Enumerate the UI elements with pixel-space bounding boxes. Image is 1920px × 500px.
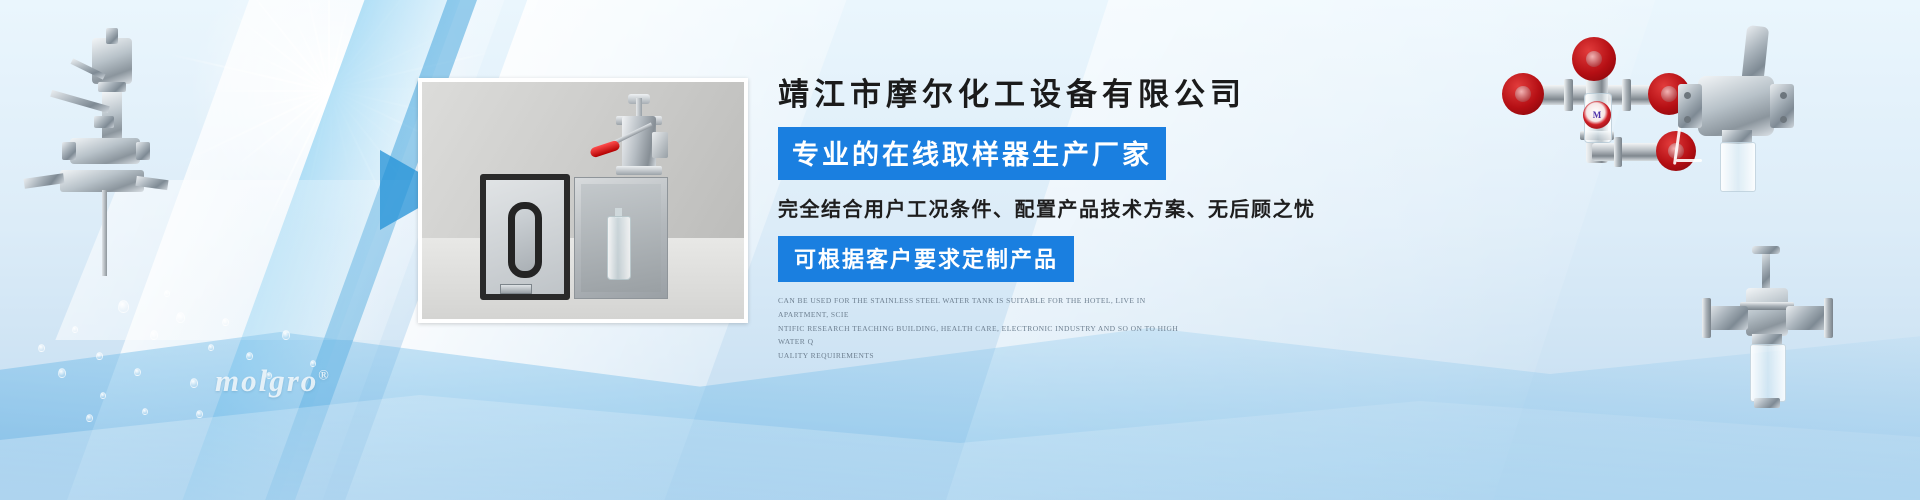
water-droplet (58, 368, 66, 378)
water-droplet (150, 330, 158, 340)
water-droplet (176, 312, 185, 323)
company-name: 靖江市摩尔化工设备有限公司 (778, 76, 1418, 115)
sub-headline: 完全结合用户工况条件、配置产品技术方案、无后顾之忧 (778, 193, 1418, 222)
lever-valve-icon (1640, 20, 1820, 200)
water-droplet (190, 378, 198, 388)
flanged-sampler-valve-icon (1700, 250, 1880, 450)
custom-order-badge[interactable]: 可根据客户要求定制产品 (778, 236, 1074, 282)
water-droplet (100, 392, 106, 399)
water-droplet (282, 330, 290, 340)
water-droplet (222, 318, 229, 326)
photo-valve-icon (608, 98, 670, 182)
water-droplet (96, 352, 103, 360)
headline-text-block: 靖江市摩尔化工设备有限公司 专业的在线取样器生产厂家 完全结合用户工况条件、配置… (778, 76, 1418, 363)
water-droplet (196, 410, 203, 418)
water-droplet (86, 414, 93, 422)
water-droplet (72, 326, 78, 333)
water-droplet (246, 352, 253, 360)
sampling-valve-assembly-icon (10, 20, 190, 300)
english-line-3: UALITY REQUIREMENTS (778, 349, 1188, 363)
english-line-1: CAN BE USED FOR THE STAINLESS STEEL WATE… (778, 294, 1188, 322)
registered-mark-icon: ® (318, 369, 330, 384)
water-droplet (208, 344, 214, 351)
sampler-cabinet-photo (418, 78, 748, 323)
water-droplet (142, 408, 148, 415)
watermark-logo: molgro® (215, 363, 331, 399)
product-hero-banner: 靖江市摩尔化工设备有限公司 专业的在线取样器生产厂家 完全结合用户工况条件、配置… (0, 0, 1920, 500)
english-description: CAN BE USED FOR THE STAINLESS STEEL WATE… (778, 294, 1188, 363)
seal-monogram: M (1583, 110, 1611, 120)
english-line-2: NTIFIC RESEARCH TEACHING BUILDING, HEALT… (778, 322, 1188, 350)
tagline-badge: 专业的在线取样器生产厂家 (778, 127, 1166, 180)
water-droplet (38, 344, 45, 352)
watermark-text: molgro (215, 363, 318, 398)
water-droplet (134, 368, 141, 376)
water-droplet (118, 300, 129, 313)
